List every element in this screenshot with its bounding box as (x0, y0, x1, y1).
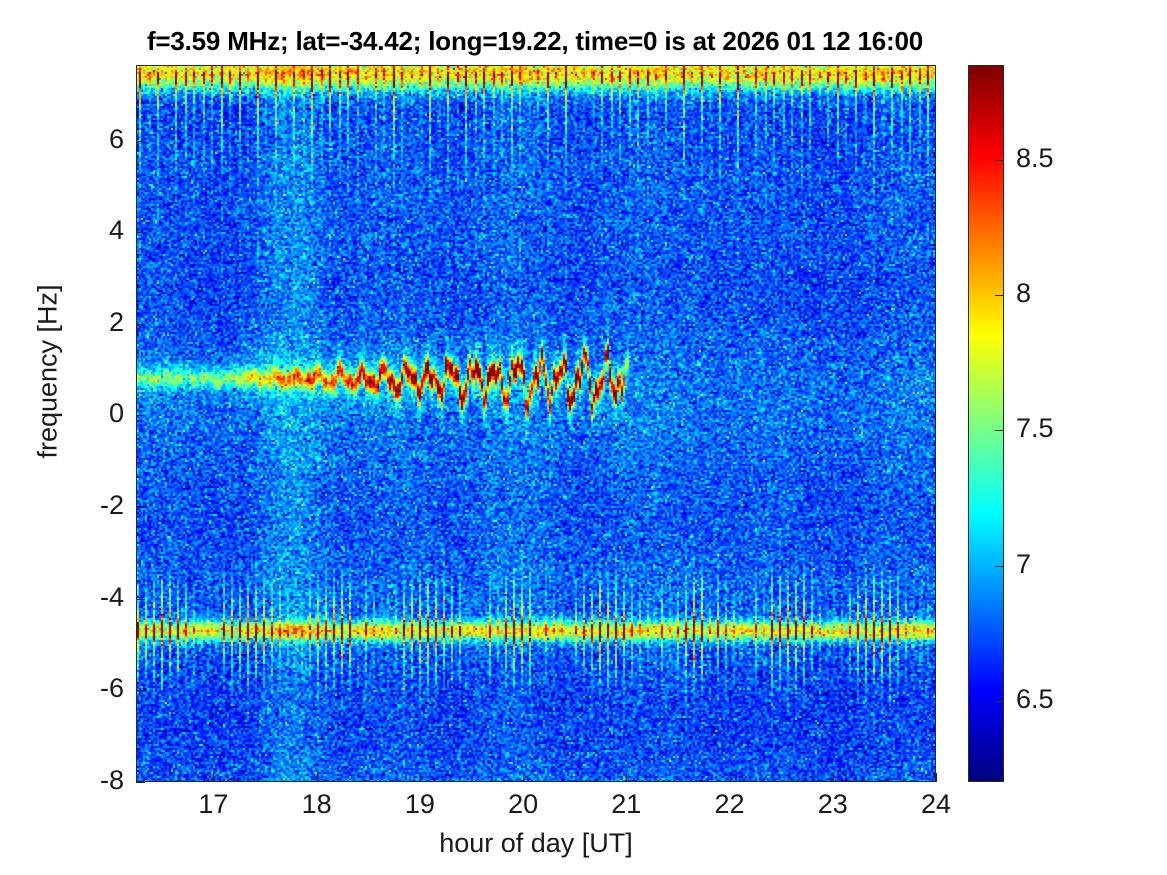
colorbar-tick-mark (995, 430, 1004, 431)
x-tick-label: 20 (493, 789, 553, 820)
x-tick-mark (730, 773, 731, 782)
x-tick-mark (420, 773, 421, 782)
y-tick-label: -6 (66, 673, 124, 704)
x-tick-label: 17 (183, 789, 243, 820)
y-tick-mark (136, 415, 145, 416)
y-tick-mark (136, 507, 145, 508)
x-tick-mark (317, 773, 318, 782)
colorbar-tick-label: 8.5 (1016, 143, 1106, 174)
colorbar-tick-label: 7 (1016, 549, 1106, 580)
x-tick-mark (833, 773, 834, 782)
x-tick-label: 24 (906, 789, 966, 820)
x-tick-label: 18 (287, 789, 347, 820)
y-tick-label: -4 (66, 582, 124, 613)
colorbar-tick-mark (995, 701, 1004, 702)
colorbar-tick-mark (995, 566, 1004, 567)
spectrogram-image[interactable] (137, 66, 935, 781)
y-tick-mark (136, 690, 145, 691)
page-title: f=3.59 MHz; lat=-34.42; long=19.22, time… (0, 26, 1070, 57)
x-tick-label: 22 (700, 789, 760, 820)
x-axis-label: hour of day [UT] (136, 828, 936, 859)
y-tick-mark (136, 232, 145, 233)
y-tick-label: -2 (66, 490, 124, 521)
colorbar-tick-label: 6.5 (1016, 684, 1106, 715)
y-tick-label: 2 (66, 307, 124, 338)
colorbar-gradient (969, 66, 1003, 781)
spectrogram-axes[interactable] (136, 65, 936, 782)
x-tick-mark (626, 773, 627, 782)
y-tick-label: -8 (66, 765, 124, 796)
y-axis-label: frequency [Hz] (33, 112, 64, 632)
colorbar-tick-mark (995, 295, 1004, 296)
y-tick-label: 0 (66, 398, 124, 429)
x-tick-label: 21 (596, 789, 656, 820)
x-tick-label: 19 (390, 789, 450, 820)
colorbar-tick-mark (995, 160, 1004, 161)
y-tick-mark (136, 324, 145, 325)
y-tick-label: 6 (66, 124, 124, 155)
x-tick-mark (523, 773, 524, 782)
x-tick-label: 23 (803, 789, 863, 820)
y-tick-mark (136, 141, 145, 142)
y-tick-mark (136, 782, 145, 783)
colorbar-tick-label: 8 (1016, 278, 1106, 309)
colorbar[interactable] (968, 65, 1004, 782)
y-tick-label: 4 (66, 215, 124, 246)
x-tick-mark (213, 773, 214, 782)
x-tick-mark (936, 773, 937, 782)
figure-canvas: f=3.59 MHz; lat=-34.42; long=19.22, time… (0, 0, 1167, 875)
y-tick-mark (136, 599, 145, 600)
colorbar-tick-label: 7.5 (1016, 413, 1106, 444)
